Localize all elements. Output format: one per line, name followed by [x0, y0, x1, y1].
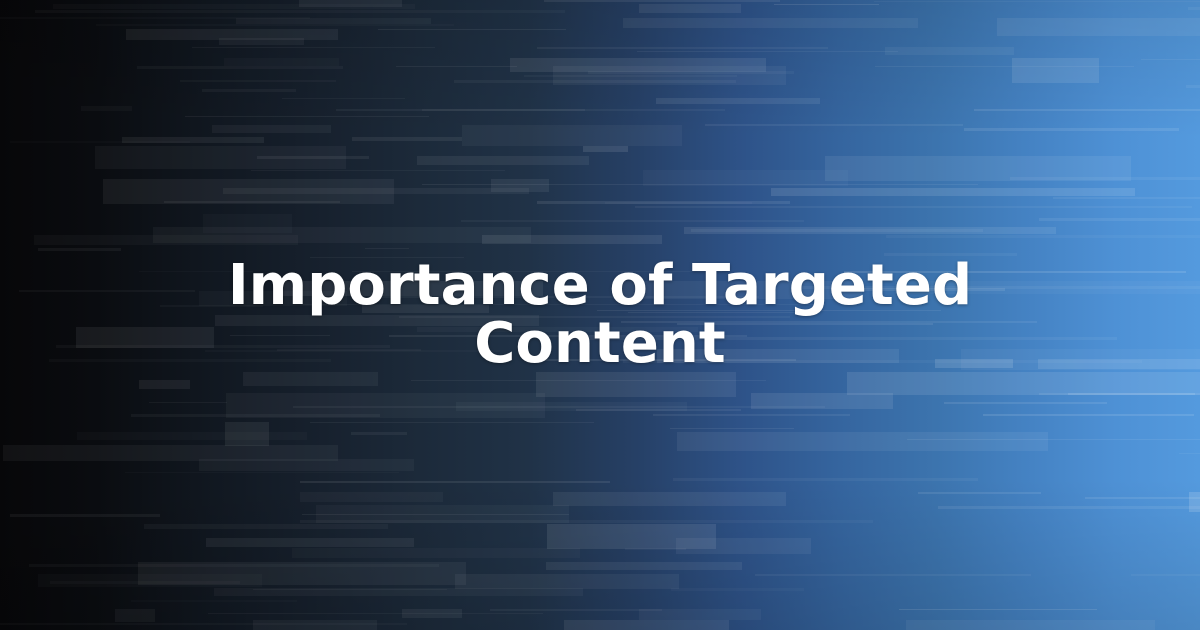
- title-container: Importance of Targeted Content: [0, 0, 1200, 630]
- social-share-banner: Importance of Targeted Content: [0, 0, 1200, 630]
- page-title: Importance of Targeted Content: [150, 257, 1050, 373]
